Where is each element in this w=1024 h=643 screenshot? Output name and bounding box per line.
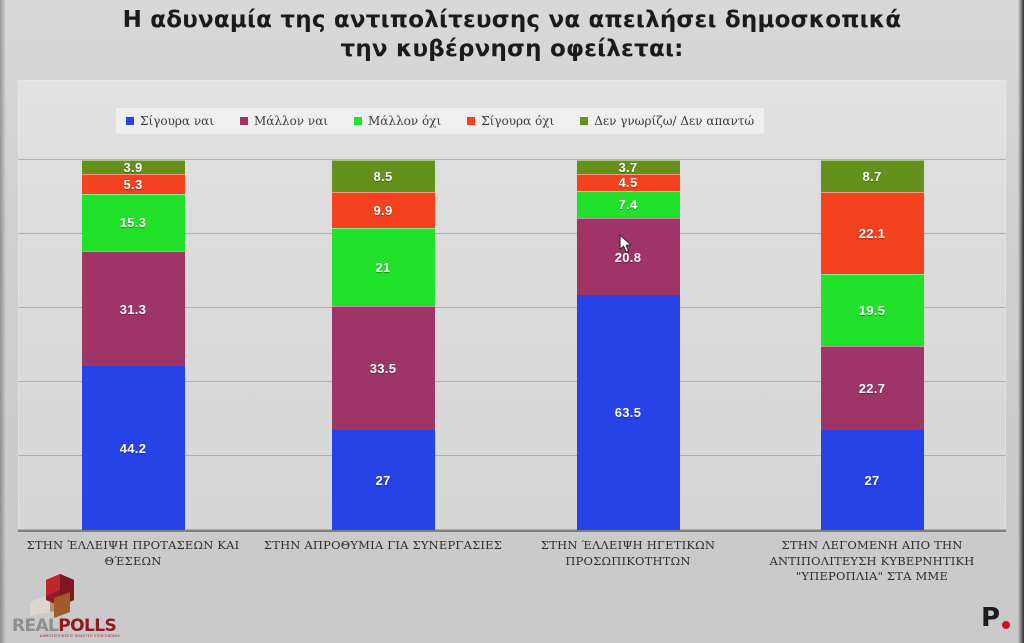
- legend-swatch-icon: [467, 117, 475, 125]
- bar-value-label: 22.7: [859, 381, 886, 396]
- bar-segment[interactable]: 4.5: [577, 174, 680, 191]
- bar-value-label: 19.5: [859, 303, 886, 318]
- bar-segment[interactable]: 15.3: [82, 194, 185, 251]
- bar-stack[interactable]: 2733.5219.98.5: [332, 160, 435, 530]
- x-axis-line: [18, 530, 1006, 532]
- bar-stack[interactable]: 63.520.87.44.53.7: [577, 160, 680, 530]
- x-axis-label: ΣΤΗΝ ΑΠΡΟΘΥΜΙΑ ΓΙΑ ΣΥΝΕΡΓΑΣΙΕΣ: [263, 538, 503, 554]
- bar-value-label: 8.7: [863, 169, 882, 184]
- legend-label: Μάλλον όχι: [368, 114, 441, 128]
- bar-segment[interactable]: 19.5: [821, 274, 924, 346]
- bar-value-label: 3.9: [124, 160, 143, 175]
- bar-value-label: 7.4: [619, 197, 638, 212]
- bar-stack[interactable]: 44.231.315.35.33.9: [82, 160, 185, 530]
- corner-logo: P: [981, 605, 1010, 631]
- bar-value-label: 15.3: [120, 215, 147, 230]
- x-axis-label: ΣΤΗΝ ΛΕΓΟΜΕΝΗ ΑΠΟ ΤΗΝΑΝΤΙΠΟΛΙΤΕΥΣΗ ΚΥΒΕΡ…: [757, 538, 987, 585]
- x-axis-label: ΣΤΗΝ ΈΛΛΕΙΨΗ ΠΡΟΤΑΣΕΩΝ ΚΑΙ ΘΈΣΕΩΝ: [3, 538, 263, 569]
- logo-word-polls: POLLS: [58, 616, 116, 636]
- legend-item[interactable]: Δεν γνωρίζω/ Δεν απαντώ: [580, 114, 754, 128]
- bar-segment[interactable]: 3.7: [577, 160, 680, 174]
- logo-word-real: REAL: [12, 616, 58, 636]
- bar-segment[interactable]: 33.5: [332, 306, 435, 430]
- bar-segment[interactable]: 31.3: [82, 251, 185, 367]
- corner-logo-letter: P: [981, 605, 1000, 631]
- legend-swatch-icon: [240, 117, 248, 125]
- bar-segment[interactable]: 3.9: [82, 160, 185, 174]
- bar-segment[interactable]: 22.1: [821, 192, 924, 274]
- corner-logo-dot-icon: [1002, 621, 1010, 629]
- x-axis-label-line: ΑΝΤΙΠΟΛΙΤΕΥΣΗ ΚΥΒΕΡΝΗΤΙΚΗ: [757, 554, 987, 570]
- bar-segment[interactable]: 9.9: [332, 192, 435, 229]
- page-title: Η αδυναμία της αντιπολίτευσης να απειλήσ…: [0, 6, 1024, 65]
- bar-segment[interactable]: 44.2: [82, 366, 185, 530]
- chart-legend: Σίγουρα ναιΜάλλον ναιΜάλλον όχιΣίγουρα ό…: [116, 108, 764, 134]
- x-axis-label: ΣΤΗΝ ΈΛΛΕΙΨΗ ΗΓΕΤΙΚΩΝΠΡΟΣΩΠΙΚΟΤΗΤΩΝ: [528, 538, 728, 569]
- x-axis-labels: ΣΤΗΝ ΈΛΛΕΙΨΗ ΠΡΟΤΑΣΕΩΝ ΚΑΙ ΘΈΣΕΩΝΣΤΗΝ ΑΠ…: [18, 538, 1006, 596]
- realpolls-logo: REALPOLLS ΔΗΜΟΣΚΟΠΗΣΕΙΣ ΑΝΑΛΥΣΗ ΕΠΙΚΟΙΝΩ…: [10, 572, 118, 638]
- x-axis-label-line: ΣΤΗΝ ΈΛΛΕΙΨΗ ΗΓΕΤΙΚΩΝ: [528, 538, 728, 554]
- bar-segment[interactable]: 8.7: [821, 160, 924, 192]
- right-edge-shadow: [1018, 0, 1024, 643]
- title-line-1: Η αδυναμία της αντιπολίτευσης να απειλήσ…: [0, 6, 1024, 35]
- logo-mark-icon: [10, 572, 118, 620]
- bar-value-label: 44.2: [120, 441, 147, 456]
- bar-value-label: 31.3: [120, 302, 147, 317]
- bar-value-label: 3.7: [619, 160, 638, 175]
- bar-stack[interactable]: 2722.719.522.18.7: [821, 160, 924, 530]
- legend-swatch-icon: [354, 117, 362, 125]
- legend-label: Μάλλον ναι: [254, 114, 328, 128]
- slide-screenshot: Η αδυναμία της αντιπολίτευσης να απειλήσ…: [0, 0, 1024, 643]
- x-axis-label-line: ΠΡΟΣΩΠΙΚΟΤΗΤΩΝ: [528, 554, 728, 570]
- x-axis-label-line: "ΥΠΕΡΟΠΛΙΑ" ΣΤΑ ΜΜΕ: [757, 569, 987, 585]
- legend-swatch-icon: [126, 117, 134, 125]
- bar-segment[interactable]: 5.3: [82, 174, 185, 194]
- bar-segment[interactable]: 7.4: [577, 191, 680, 218]
- bar-segment[interactable]: 21: [332, 228, 435, 306]
- bar-value-label: 27: [864, 473, 879, 488]
- x-axis-label-line: ΣΤΗΝ ΑΠΡΟΘΥΜΙΑ ΓΙΑ ΣΥΝΕΡΓΑΣΙΕΣ: [263, 538, 503, 554]
- legend-swatch-icon: [580, 117, 588, 125]
- bar-value-label: 21: [375, 260, 390, 275]
- bar-segment[interactable]: 22.7: [821, 346, 924, 430]
- bar-segment[interactable]: 27: [332, 430, 435, 530]
- x-axis-label-line: ΣΤΗΝ ΈΛΛΕΙΨΗ ΠΡΟΤΑΣΕΩΝ ΚΑΙ ΘΈΣΕΩΝ: [3, 538, 263, 569]
- bar-segment[interactable]: 20.8: [577, 218, 680, 295]
- bar-segment[interactable]: 63.5: [577, 295, 680, 530]
- x-axis-label-line: ΣΤΗΝ ΛΕΓΟΜΕΝΗ ΑΠΟ ΤΗΝ: [757, 538, 987, 554]
- bar-value-label: 20.8: [615, 250, 642, 265]
- bar-segment[interactable]: 8.5: [332, 160, 435, 191]
- legend-label: Σίγουρα ναι: [140, 114, 214, 128]
- legend-item[interactable]: Μάλλον ναι: [240, 114, 328, 128]
- bar-value-label: 27: [375, 473, 390, 488]
- bar-value-label: 22.1: [859, 226, 886, 241]
- left-edge-shadow: [0, 0, 6, 643]
- logo-tagline: ΔΗΜΟΣΚΟΠΗΣΕΙΣ ΑΝΑΛΥΣΗ ΕΠΙΚΟΙΝΩΝΙΑ: [40, 634, 120, 638]
- legend-item[interactable]: Σίγουρα ναι: [126, 114, 214, 128]
- legend-label: Δεν γνωρίζω/ Δεν απαντώ: [594, 114, 754, 128]
- legend-item[interactable]: Μάλλον όχι: [354, 114, 441, 128]
- title-line-2: την κυβέρνηση οφείλεται:: [0, 35, 1024, 64]
- legend-label: Σίγουρα όχι: [481, 114, 554, 128]
- bar-value-label: 5.3: [124, 177, 143, 192]
- bar-value-label: 8.5: [374, 169, 393, 184]
- bar-value-label: 9.9: [374, 203, 393, 218]
- chart-container: 44.231.315.35.33.92733.5219.98.563.520.8…: [18, 80, 1006, 532]
- bar-value-label: 63.5: [615, 405, 642, 420]
- bar-value-label: 33.5: [370, 361, 397, 376]
- legend-item[interactable]: Σίγουρα όχι: [467, 114, 554, 128]
- bar-segment[interactable]: 27: [821, 430, 924, 530]
- bar-value-label: 4.5: [619, 175, 638, 190]
- logo-wordmark: REALPOLLS: [12, 616, 116, 636]
